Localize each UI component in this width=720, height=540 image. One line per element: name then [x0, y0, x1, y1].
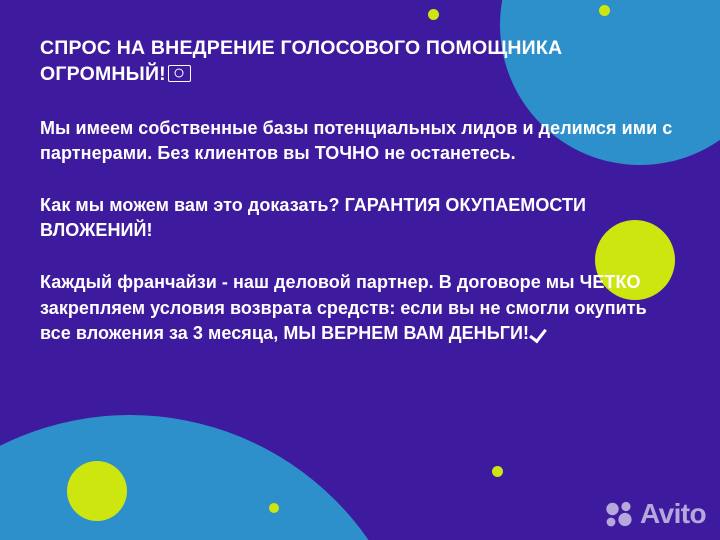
avito-wordmark: Avito — [640, 500, 706, 528]
headline: СПРОС НА ВНЕДРЕНИЕ ГОЛОСОВОГО ПОМОЩНИКА … — [40, 36, 665, 88]
lime-dot-bottom-center — [492, 466, 503, 477]
paragraph-guarantee-text: Как мы можем вам это доказать? ГАРАНТИЯ … — [40, 195, 586, 241]
paragraph-refund-text: Каждый франчайзи - наш деловой партнер. … — [40, 272, 647, 343]
headline-text: СПРОС НА ВНЕДРЕНИЕ ГОЛОСОВОГО ПОМОЩНИКА … — [40, 37, 562, 85]
blue-circle-bottom-left — [0, 415, 420, 540]
avito-watermark: Avito — [605, 500, 706, 528]
check-mark-emoji — [531, 325, 548, 342]
paragraph-leads: Мы имеем собственные базы потенциальных … — [40, 116, 680, 167]
promo-slide: СПРОС НА ВНЕДРЕНИЕ ГОЛОСОВОГО ПОМОЩНИКА … — [0, 0, 720, 540]
avito-dots-logo-icon — [605, 501, 635, 527]
lime-dot-bottom-left — [269, 503, 279, 513]
paragraph-guarantee: Как мы можем вам это доказать? ГАРАНТИЯ … — [40, 193, 680, 244]
paragraph-leads-text: Мы имеем собственные базы потенциальных … — [40, 118, 672, 164]
paragraph-refund: Каждый франчайзи - наш деловой партнер. … — [40, 270, 680, 347]
slide-content: СПРОС НА ВНЕДРЕНИЕ ГОЛОСОВОГО ПОМОЩНИКА … — [0, 0, 720, 347]
lime-circle-bottom-left — [67, 461, 127, 521]
banknote-emoji — [168, 65, 191, 82]
